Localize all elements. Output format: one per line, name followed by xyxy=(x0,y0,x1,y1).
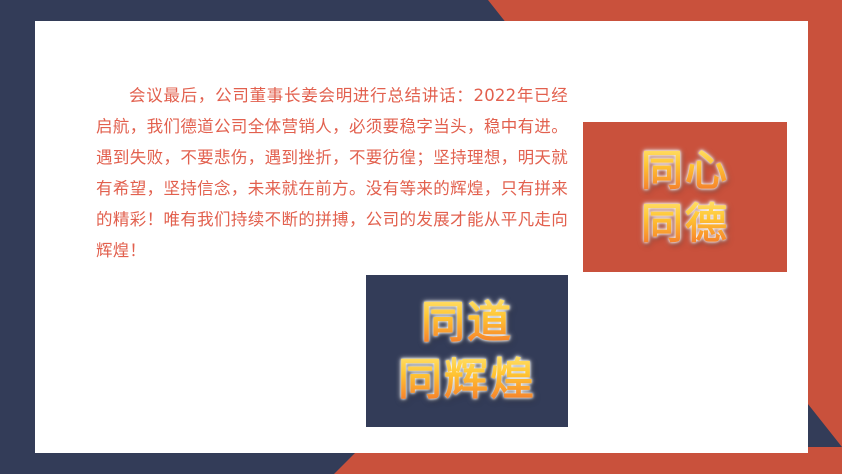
slogan-box-navy: 同道 同辉煌 xyxy=(366,275,568,427)
summary-paragraph: 会议最后，公司董事长姜会明进行总结讲话：2022年已经启航，我们德道公司全体营销… xyxy=(96,80,568,266)
presentation-slide: 会议最后，公司董事长姜会明进行总结讲话：2022年已经启航，我们德道公司全体营销… xyxy=(0,0,842,474)
slogan-navy-line-1: 同道 xyxy=(421,298,513,347)
slogan-orange-line-2: 同德 xyxy=(641,200,729,247)
slogan-orange-line-1: 同心 xyxy=(641,147,729,194)
slogan-navy-line-2: 同辉煌 xyxy=(398,355,536,404)
slogan-box-orange: 同心 同德 xyxy=(583,122,787,272)
